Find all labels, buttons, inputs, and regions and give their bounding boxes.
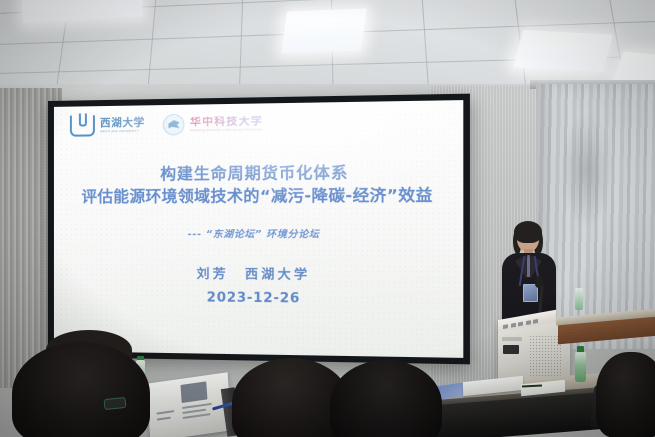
westlake-logo-en: WESTLAKE UNIVERSITY <box>100 129 145 134</box>
water-bottle <box>575 288 583 310</box>
slide-date: 2023-12-26 <box>54 289 463 308</box>
slide-title-line-2: 评估能源环境领域技术的“减污-降碳-经济”效益 <box>54 183 463 208</box>
curtain-shadow <box>560 110 614 230</box>
audience-glasses-icon <box>103 397 126 410</box>
westlake-university-logo: 西湖大学 WESTLAKE UNIVERSITY <box>70 115 145 137</box>
ceiling-light <box>281 8 367 53</box>
slide-logo-row: 西湖大学 WESTLAKE UNIVERSITY 华中科技大学 Huazhong… <box>70 113 263 137</box>
photo-scene: 西湖大学 WESTLAKE UNIVERSITY 华中科技大学 Huazhong… <box>0 0 655 437</box>
projection-screen: 西湖大学 WESTLAKE UNIVERSITY 华中科技大学 Huazhong… <box>54 100 463 358</box>
water-bottle <box>575 352 586 382</box>
slide-title-area: 构建生命周期货币化体系 评估能源环境领域技术的“减污-降碳-经济”效益 --- … <box>54 161 463 308</box>
slide-title-line-1: 构建生命周期货币化体系 <box>54 161 463 186</box>
hust-emblem-icon <box>163 114 185 136</box>
audience-head-left <box>12 342 150 437</box>
lectern-label <box>502 337 522 341</box>
hust-logo-cn: 华中科技大学 <box>190 116 263 128</box>
hust-logo-en: Huazhong University of Science and Techn… <box>190 127 263 132</box>
microphone-head-icon <box>535 276 543 288</box>
lectern-control-panel[interactable] <box>503 345 519 354</box>
slide-subtitle: --- “东湖论坛” 环境分论坛 <box>54 226 463 241</box>
ceiling-light <box>513 30 613 72</box>
audience-head-far-right <box>596 352 655 437</box>
lectern-speaker-grille <box>529 335 561 377</box>
westlake-emblem-icon <box>70 115 95 136</box>
hust-logo: 华中科技大学 Huazhong University of Science an… <box>163 113 263 136</box>
presenter-hair <box>514 221 542 243</box>
projection-screen-frame: 西湖大学 WESTLAKE UNIVERSITY 华中科技大学 Huazhong… <box>48 94 470 365</box>
slide-author: 刘芳 西湖大学 <box>54 262 463 284</box>
westlake-logo-cn: 西湖大学 <box>100 118 145 130</box>
presentation-slide: 西湖大学 WESTLAKE UNIVERSITY 华中科技大学 Huazhong… <box>54 100 463 358</box>
